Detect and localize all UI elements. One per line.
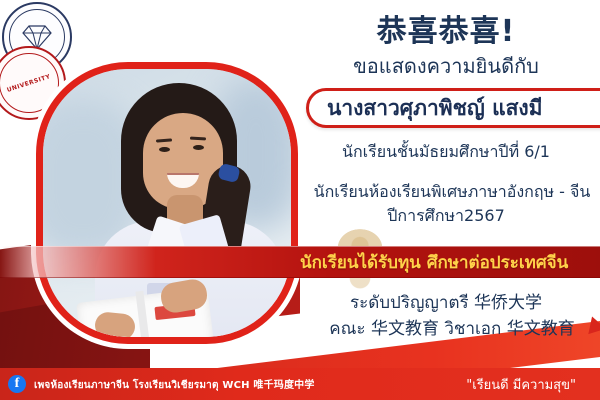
student-name: นางสาวศุภาพิชญ์ แสงมี	[327, 92, 543, 125]
footer-bar: f เพจห้องเรียนภาษาจีน โรงเรียนวิเชียรมาต…	[0, 368, 600, 400]
program-line: นักเรียนห้องเรียนพิเศษภาษาอังกฤษ - จีน	[298, 180, 600, 205]
facebook-page-name: เพจห้องเรียนภาษาจีน โรงเรียนวิเชียรมาตุ …	[34, 376, 315, 393]
congratulations-chinese-heading: 恭喜恭喜!	[292, 6, 600, 50]
eye-right	[193, 145, 204, 150]
school-motto: "เรียนดี มีความสุข"	[466, 368, 576, 400]
grade-level-line: นักเรียนชั้นมัธยมศึกษาปีที่ 6/1	[292, 140, 600, 165]
faculty-major-line: คณะ 华文教育 วิชาเอก 华文教育	[292, 314, 600, 342]
scholarship-banner-text: นักเรียนได้รับทุน ศึกษาต่อประเทศจีน	[300, 249, 568, 276]
academic-year-line: ปีการศึกษา2567	[292, 204, 600, 229]
student-photo-frame	[36, 62, 298, 344]
text-column: 恭喜恭喜! ขอแสดงความยินดีกับ นางสาวศุภาพิชญ์…	[292, 0, 600, 368]
facebook-glyph: f	[15, 377, 20, 391]
student-name-box: นางสาวศุภาพิชญ์ แสงมี	[306, 88, 600, 128]
eye-left	[159, 147, 170, 152]
degree-line: ระดับปริญญาตรี 华侨大学	[292, 288, 600, 316]
congratulations-thai-subheading: ขอแสดงความยินดีกับ	[292, 50, 600, 82]
congratulations-poster: UNIVERSITY	[0, 0, 600, 400]
student-photo	[43, 69, 291, 337]
facebook-icon[interactable]: f	[8, 375, 26, 393]
scholarship-banner: นักเรียนได้รับทุน ศึกษาต่อประเทศจีน	[0, 246, 600, 278]
